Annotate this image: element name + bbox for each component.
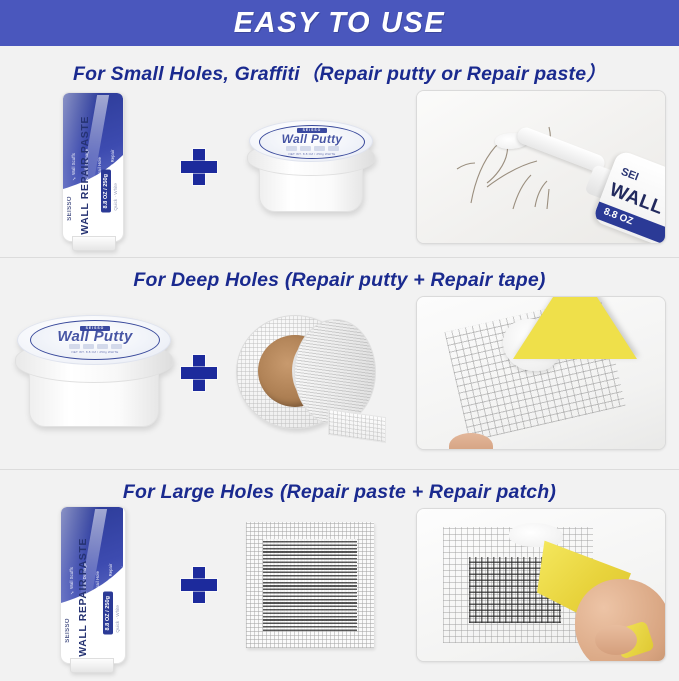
photo-tube-brand: SEI bbox=[619, 166, 640, 184]
yellow-spatula-icon bbox=[513, 296, 637, 359]
photo-slot-2 bbox=[412, 292, 670, 454]
plus-separator-3 bbox=[178, 504, 220, 666]
tube-body: Wall Scuffs Wall Damage Nail Hole Quick … bbox=[60, 506, 126, 664]
application-photo-deep-hole bbox=[416, 296, 666, 450]
section-body-large-holes: Wall Scuffs Wall Damage Nail Hole Quick … bbox=[0, 504, 679, 666]
mesh-repair-tape-roll bbox=[236, 309, 384, 437]
tub-feature-icon bbox=[314, 146, 325, 151]
product-mesh-patch bbox=[220, 504, 400, 666]
section-large-holes: For Large Holes (Repair paste + Repair p… bbox=[0, 470, 679, 681]
tub-feature-icon bbox=[111, 344, 122, 349]
photo-slot-3 bbox=[412, 504, 670, 666]
wall-repair-paste-tube: Wall Scuffs Wall Damage Nail Hole Quick … bbox=[60, 506, 126, 664]
tub-product-label: Wall Putty bbox=[282, 133, 343, 145]
patch-metal-mesh-center bbox=[263, 539, 357, 631]
plus-icon bbox=[181, 355, 217, 391]
tube-product-label: WALL REPAIR PASTE bbox=[79, 116, 91, 235]
tub-feature-icon bbox=[97, 344, 108, 349]
page-title: EASY TO USE bbox=[234, 7, 446, 40]
tub-label: SEISSO Wall Putty NET WT. 8.8 OZ / 250g … bbox=[259, 125, 365, 159]
wall-putty-tub: SEISSO Wall Putty NET WT. 8.8 OZ / 250g … bbox=[247, 118, 373, 216]
tub-feature-icon bbox=[328, 146, 339, 151]
section-title-deep-holes: For Deep Holes (Repair putty + Repair ta… bbox=[0, 258, 679, 292]
tub-icon-row bbox=[69, 344, 122, 349]
section-title-small-holes: For Small Holes, Graffiti（Repair putty o… bbox=[0, 46, 679, 86]
tube-bullet: Wall Scuffs bbox=[67, 537, 77, 595]
infographic-page: EASY TO USE For Small Holes, Graffiti（Re… bbox=[0, 0, 679, 679]
wall-repair-paste-tube: Wall Scuffs Wall Damage Nail Hole Quick … bbox=[62, 92, 124, 242]
plus-icon bbox=[181, 567, 217, 603]
header-banner: EASY TO USE bbox=[0, 0, 679, 46]
photo-content bbox=[417, 297, 665, 449]
tube-subtext: Quick · White bbox=[113, 183, 118, 211]
product-paste-tube: Wall Scuffs Wall Damage Nail Hole Quick … bbox=[8, 86, 178, 248]
wall-putty-tub: SEISSO Wall Putty NET WT. 8.8 OZ / 250g … bbox=[15, 313, 171, 433]
finger bbox=[595, 625, 637, 655]
tub-icon-row bbox=[286, 146, 339, 151]
photo-content bbox=[417, 509, 665, 661]
tub-feature-icon bbox=[300, 146, 311, 151]
section-small-holes: For Small Holes, Graffiti（Repair putty o… bbox=[0, 46, 679, 257]
application-photo-large-hole bbox=[416, 508, 666, 662]
tube-bullet: Wall Graffiti bbox=[121, 123, 124, 181]
section-title-large-holes: For Large Holes (Repair paste + Repair p… bbox=[0, 470, 679, 504]
photo-slot-1: SEI WALL 8.8 OZ bbox=[412, 86, 670, 248]
applied-paste-blob bbox=[509, 523, 563, 547]
plus-icon bbox=[181, 149, 217, 185]
tube-brand-label: SEISSO bbox=[67, 196, 73, 221]
tub-feature-icon bbox=[69, 344, 80, 349]
tub-feature-icon bbox=[83, 344, 94, 349]
product-paste-tube-2: Wall Scuffs Wall Damage Nail Hole Quick … bbox=[8, 504, 178, 666]
tube-body: Wall Scuffs Wall Damage Nail Hole Quick … bbox=[62, 92, 124, 242]
application-photo-graffiti: SEI WALL 8.8 OZ bbox=[416, 90, 666, 244]
tub-lid-top: SEISSO Wall Putty NET WT. 8.8 OZ / 250g … bbox=[249, 120, 373, 162]
section-deep-holes: For Deep Holes (Repair putty + Repair ta… bbox=[0, 258, 679, 469]
tub-footer-text: NET WT. 8.8 OZ / 250g WHITE bbox=[71, 350, 118, 354]
section-body-deep-holes: SEISSO Wall Putty NET WT. 8.8 OZ / 250g … bbox=[0, 292, 679, 454]
tub-label: SEISSO Wall Putty NET WT. 8.8 OZ / 250g … bbox=[30, 320, 160, 360]
tube-bullet: Quick Repair bbox=[106, 537, 116, 595]
tube-cap bbox=[70, 658, 114, 673]
product-mesh-tape bbox=[220, 292, 400, 454]
tube-bullet: Wall Scuffs bbox=[69, 123, 79, 181]
photo-content: SEI WALL 8.8 OZ bbox=[417, 91, 665, 243]
tub-feature-icon bbox=[286, 146, 297, 151]
tube-product-label: WALL REPAIR PASTE bbox=[77, 538, 89, 657]
tube-feature-list: Wall Scuffs Wall Damage Nail Hole Quick … bbox=[67, 537, 119, 595]
tape-loose-end bbox=[328, 409, 386, 443]
tube-subtext: Quick · White bbox=[115, 605, 120, 633]
tube-feature-list: Wall Scuffs Wall Damage Nail Hole Quick … bbox=[69, 123, 121, 181]
tube-cap bbox=[72, 236, 116, 251]
tube-bullet: Nail Hole bbox=[93, 537, 103, 595]
plus-separator-1 bbox=[178, 86, 220, 248]
tube-weight-badge: 8.8 OZ / 250g bbox=[103, 592, 113, 635]
tube-weight-badge: 8.8 OZ / 250g bbox=[101, 170, 111, 213]
tube-brand-label: SEISSO bbox=[65, 618, 71, 643]
tube-bullet: Wall Graffiti bbox=[119, 537, 126, 595]
product-putty-tub-2: SEISSO Wall Putty NET WT. 8.8 OZ / 250g … bbox=[8, 292, 178, 454]
plus-separator-2 bbox=[178, 292, 220, 454]
tub-footer-text: NET WT. 8.8 OZ / 250g WHITE bbox=[288, 152, 335, 156]
tub-lid-top: SEISSO Wall Putty NET WT. 8.8 OZ / 250g … bbox=[17, 315, 171, 365]
tub-product-label: Wall Putty bbox=[57, 331, 132, 343]
mesh-repair-patch bbox=[246, 522, 374, 648]
product-putty-tub-1: SEISSO Wall Putty NET WT. 8.8 OZ / 250g … bbox=[220, 86, 400, 248]
section-body-small-holes: Wall Scuffs Wall Damage Nail Hole Quick … bbox=[0, 86, 679, 248]
